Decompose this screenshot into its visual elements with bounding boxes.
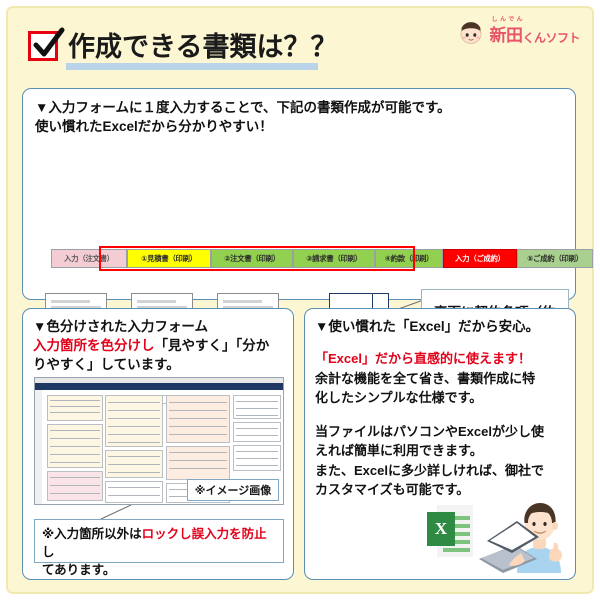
- tab-input-contract[interactable]: 入力（ご成約）: [443, 249, 517, 268]
- header: 作成できる書類は？？ しんでん 新田 くんソフト: [6, 6, 594, 84]
- checkmark-icon: [28, 25, 68, 65]
- top-panel-line1: ▼入力フォームに１度入力することで、下記の書類作成が可能です。: [35, 98, 570, 117]
- br-heading: ▼使い慣れた「Excel」だから安心。: [315, 317, 569, 336]
- logo-sub-text: くんソフト: [522, 29, 580, 46]
- br-para1-line1: 余計な機能を全て省き、書類作成に特: [315, 369, 571, 389]
- screenshot-cell: [166, 446, 230, 480]
- logo-text: しんでん 新田 くんソフト: [489, 21, 580, 46]
- infographic-page: 作成できる書類は？？ しんでん 新田 くんソフト: [0, 0, 600, 600]
- excel-sheet-tabs: 入力（注文書） ①見積書（印刷） ②注文書（印刷） ③請求書（印刷） ④約款（印…: [51, 249, 593, 268]
- screenshot-cell: [105, 395, 163, 447]
- tab-invoice[interactable]: ③請求書（印刷）: [293, 249, 375, 268]
- tab-terms[interactable]: ④約款（印刷）: [375, 249, 443, 268]
- excel-x-letter: X: [427, 512, 455, 546]
- lock-note-pre: ※入力箇所以外は: [42, 527, 142, 541]
- image-disclaimer-badge: ※イメージ画像: [187, 479, 279, 501]
- form-screenshot: ※イメージ画像: [34, 377, 284, 505]
- top-panel-text: ▼入力フォームに１度入力することで、下記の書類作成が可能です。 使い慣れたExc…: [35, 98, 570, 136]
- boy-face-icon: [458, 20, 484, 46]
- br-para1-line2: 化したシンプルな仕様です。: [315, 388, 571, 408]
- lock-note-line1: ※入力箇所以外はロックし誤入力を防止し: [42, 525, 276, 561]
- screenshot-row-headers: [35, 390, 42, 504]
- bl-body-line1: 入力箇所を色分けし「見やすく」「分か: [33, 336, 285, 355]
- screenshot-cell: [47, 424, 103, 468]
- screenshot-cell: [47, 395, 103, 421]
- br-emphasis: 「Excel」だから直感的に使えます！: [315, 349, 571, 369]
- br-para2-line2: えれば簡単に利用できます。: [315, 441, 571, 461]
- documents-panel: ▼入力フォームに１度入力することで、下記の書類作成が可能です。 使い慣れたExc…: [22, 88, 576, 300]
- checkbox-icon: [28, 31, 58, 61]
- screenshot-cell: [233, 395, 281, 419]
- screenshot-cell: [47, 471, 103, 501]
- bl-body-line2: りやすく」しています。: [33, 355, 285, 374]
- screenshot-cell: [105, 450, 163, 478]
- lock-note-post: し: [42, 545, 55, 559]
- brand-logo: しんでん 新田 くんソフト: [458, 16, 580, 50]
- tab-order-form[interactable]: ②注文書（印刷）: [211, 249, 293, 268]
- color-coded-form-panel: ▼色分けされた入力フォーム 入力箇所を色分けし「見やすく」「分か りやすく」して…: [22, 308, 294, 580]
- lock-note-emphasis: ロックし誤入力を防止: [142, 527, 267, 541]
- br-para2-line3: また、Excelに多少詳しければ、御社で: [315, 461, 571, 481]
- br-heading-block: ▼使い慣れた「Excel」だから安心。: [315, 317, 569, 336]
- lock-note-line2: てあります。: [42, 561, 276, 579]
- bl-heading-block: ▼色分けされた入力フォーム 入力箇所を色分けし「見やすく」「分か りやすく」して…: [33, 317, 285, 374]
- br-body-block: 「Excel」だから直感的に使えます！ 余計な機能を全て省き、書類作成に特 化し…: [315, 349, 571, 500]
- bl-emphasis: 入力箇所を色分けし: [33, 338, 155, 353]
- bl-body-rest: 「見やすく」「分か: [155, 338, 270, 353]
- screenshot-cell: [166, 395, 230, 443]
- top-panel-line2: 使い慣れたExcelだから分かりやすい！: [35, 117, 570, 136]
- lock-note: ※入力箇所以外はロックし誤入力を防止し てあります。: [34, 519, 284, 563]
- screenshot-titlebar: [35, 383, 283, 390]
- person-with-laptop-icon: [465, 493, 569, 577]
- screenshot-cell: [233, 445, 281, 471]
- excel-benefits-panel: ▼使い慣れた「Excel」だから安心。 「Excel」だから直感的に使えます！ …: [304, 308, 576, 580]
- screenshot-cell: [233, 422, 281, 442]
- page-title: 作成できる書類は？？: [68, 30, 337, 64]
- logo-main-text: 新田: [489, 21, 522, 46]
- screenshot-cell: [105, 481, 163, 503]
- page-title-wrap: 作成できる書類は？？: [68, 30, 337, 64]
- tab-quotation[interactable]: ①見積書（印刷）: [127, 249, 211, 268]
- br-para2-line1: 当ファイルはパソコンやExcelが少し使: [315, 422, 571, 442]
- tab-input-order[interactable]: 入力（注文書）: [51, 249, 127, 268]
- bl-heading: ▼色分けされた入力フォーム: [33, 317, 285, 336]
- paragraph-spacer: [315, 408, 571, 422]
- tab-contract-print[interactable]: ⑤ご成約（印刷）: [517, 249, 593, 268]
- title-underline: [66, 63, 318, 70]
- logo-furigana: しんでん: [491, 14, 525, 23]
